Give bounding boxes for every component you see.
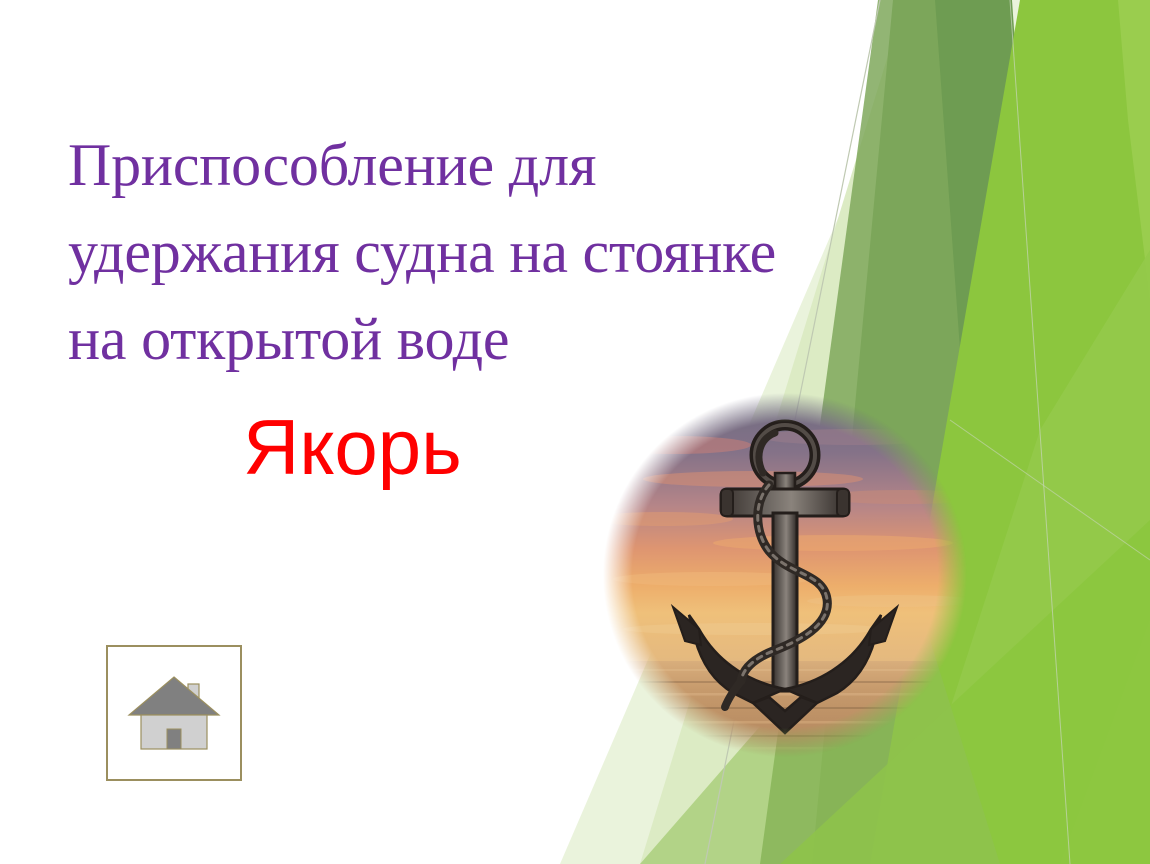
page-title: Приспособление для удержания судна на ст… <box>68 122 948 383</box>
home-icon-roof <box>129 677 219 715</box>
home-icon <box>126 671 222 755</box>
decor-hairline-2 <box>1010 0 1070 864</box>
anchor-image-inner <box>603 393 967 757</box>
slide-canvas: Приспособление для удержания судна на ст… <box>0 0 1150 864</box>
answer-text: Якорь <box>243 404 462 490</box>
decor-shape-right-sliver <box>1118 0 1150 300</box>
title-line-1: Приспособление для <box>68 122 948 209</box>
anchor-image <box>603 393 967 757</box>
decor-hairline-3 <box>950 420 1150 560</box>
home-icon-door <box>167 729 181 749</box>
home-button[interactable] <box>106 645 242 781</box>
title-line-2: удержания судна на стоянке <box>68 209 948 296</box>
anchor-sunset-illustration <box>603 393 967 757</box>
title-line-3: на открытой воде <box>68 296 948 383</box>
